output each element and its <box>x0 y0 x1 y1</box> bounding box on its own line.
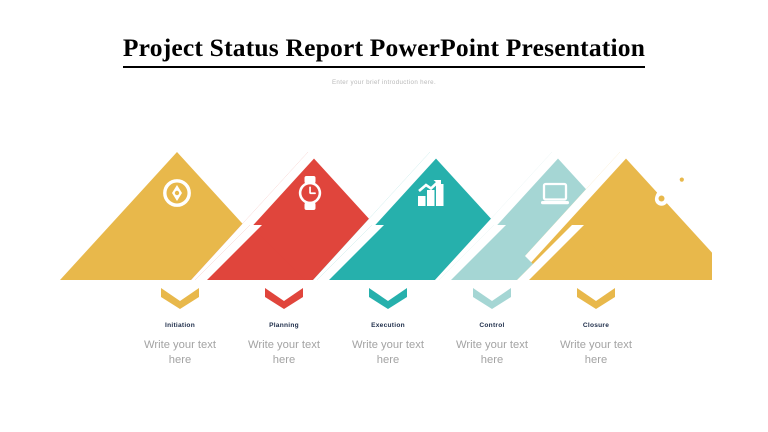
steps-row: Initiation Write your text here Planning… <box>128 288 648 398</box>
chevron-down-icon <box>473 288 511 309</box>
chevron-down-icon <box>577 288 615 309</box>
page-title: Project Status Report PowerPoint Present… <box>123 33 645 68</box>
step-column-planning[interactable]: Planning Write your text here <box>232 288 336 398</box>
step-body-text[interactable]: Write your text here <box>446 338 538 368</box>
step-body-text[interactable]: Write your text here <box>342 338 434 368</box>
chevron-down-icon <box>369 288 407 309</box>
step-column-closure[interactable]: Closure Write your text here <box>544 288 648 398</box>
step-label: Closure <box>583 322 609 329</box>
mountain-graphic <box>60 140 712 285</box>
step-label: Initiation <box>165 322 195 329</box>
chevron-down-icon <box>265 288 303 309</box>
chevron-down-icon <box>161 288 199 309</box>
title-block: Project Status Report PowerPoint Present… <box>0 33 768 68</box>
map-pins-icon <box>655 174 686 206</box>
slide-subtitle: Enter your brief introduction here. <box>0 79 768 86</box>
slide-canvas: Project Status Report PowerPoint Present… <box>0 0 768 432</box>
step-column-control[interactable]: Control Write your text here <box>440 288 544 398</box>
step-body-text[interactable]: Write your text here <box>550 338 642 368</box>
step-body-text[interactable]: Write your text here <box>134 338 226 368</box>
step-column-execution[interactable]: Execution Write your text here <box>336 288 440 398</box>
step-column-initiation[interactable]: Initiation Write your text here <box>128 288 232 398</box>
step-label: Execution <box>371 322 405 329</box>
step-body-text[interactable]: Write your text here <box>238 338 330 368</box>
step-label: Planning <box>269 322 299 329</box>
step-label: Control <box>479 322 504 329</box>
